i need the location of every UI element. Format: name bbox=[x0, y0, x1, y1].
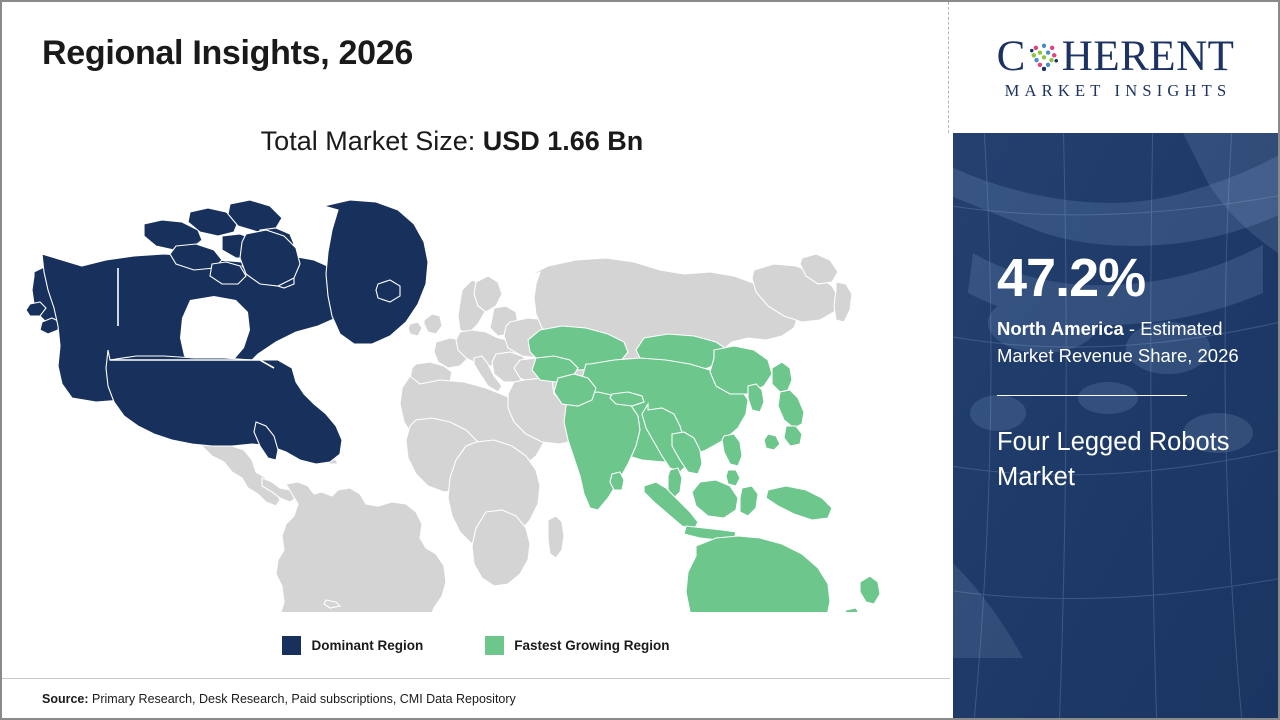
legend-swatch-dominant-icon bbox=[282, 636, 301, 655]
left-content-pane: Regional Insights, 2026 Total Market Siz… bbox=[2, 2, 950, 718]
logo-letter-c: C bbox=[997, 35, 1026, 78]
map-region-north-america bbox=[26, 200, 428, 464]
total-market-size: Total Market Size: USD 1.66 Bn bbox=[2, 126, 902, 157]
stat-percentage: 47.2% bbox=[997, 251, 1259, 305]
brand-logo: C HERENT MARKET INSIGHTS bbox=[953, 2, 1278, 133]
stat-region-name: North America bbox=[997, 318, 1124, 339]
market-size-label: Total Market Size: bbox=[261, 126, 483, 156]
panel-divider bbox=[997, 395, 1187, 397]
legend-label-dominant: Dominant Region bbox=[311, 638, 423, 653]
market-size-value: USD 1.66 Bn bbox=[483, 126, 644, 156]
page-title: Regional Insights, 2026 bbox=[42, 34, 413, 73]
legend-item-fastest-growing: Fastest Growing Region bbox=[485, 636, 669, 655]
stat-description: North America - Estimated Market Revenue… bbox=[997, 316, 1259, 370]
panel-content: 47.2% North America - Estimated Market R… bbox=[997, 251, 1259, 494]
logo-wordmark: C HERENT bbox=[997, 35, 1235, 78]
legend-item-dominant: Dominant Region bbox=[282, 636, 423, 655]
legend-swatch-fastest-growing-icon bbox=[485, 636, 504, 655]
market-name: Four Legged Robots Market bbox=[997, 425, 1259, 494]
world-map bbox=[24, 182, 904, 612]
source-divider bbox=[2, 678, 950, 679]
map-legend: Dominant Region Fastest Growing Region bbox=[2, 636, 950, 655]
map-region-asia-pacific bbox=[528, 326, 880, 612]
legend-label-fastest-growing: Fastest Growing Region bbox=[514, 638, 669, 653]
source-text: Primary Research, Desk Research, Paid su… bbox=[89, 692, 516, 706]
source-label: Source: bbox=[42, 692, 89, 706]
regional-stat-panel: 47.2% North America - Estimated Market R… bbox=[953, 133, 1278, 718]
logo-letters-herent: HERENT bbox=[1062, 35, 1235, 78]
logo-subtitle: MARKET INSIGHTS bbox=[1000, 81, 1232, 101]
source-note: Source: Primary Research, Desk Research,… bbox=[42, 692, 516, 706]
infographic-page: Regional Insights, 2026 Total Market Siz… bbox=[0, 0, 1280, 720]
vertical-dashed-separator bbox=[948, 2, 949, 133]
globe-dots-icon bbox=[1027, 39, 1061, 73]
